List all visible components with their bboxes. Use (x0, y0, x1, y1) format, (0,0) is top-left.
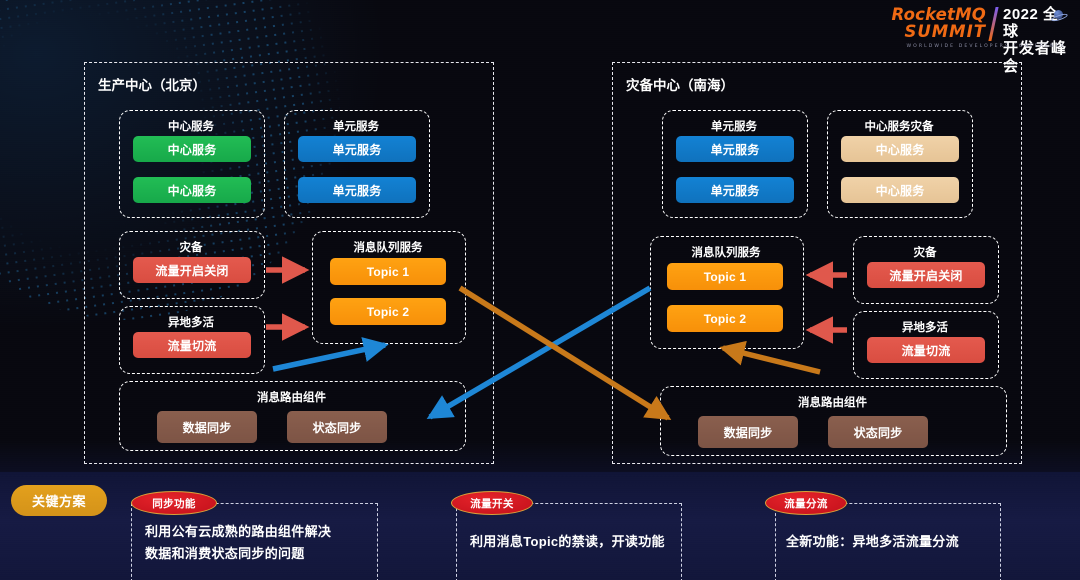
chip-dr-data-sync[interactable]: 数据同步 (698, 416, 798, 448)
chip-center-service-2[interactable]: 中心服务 (133, 177, 251, 203)
note-text-sync: 利用公有云成熟的路由组件解决 数据和消费状态同步的问题 (145, 521, 370, 565)
chip-traffic-switch[interactable]: 流量开启关闭 (133, 257, 251, 283)
badge-sync-function[interactable]: 同步功能 (131, 491, 217, 515)
chip-traffic-cutover[interactable]: 流量切流 (133, 332, 251, 358)
group-center-service-title: 中心服务 (119, 118, 263, 134)
event-logo: RocketMQ SUMMIT 2022 全球 开发者峰会 WORLDWIDE … (866, 4, 1072, 52)
group-dr-disaster-recovery-title: 灾备 (853, 244, 997, 260)
brand-lockup: RocketMQ SUMMIT (866, 6, 986, 41)
chip-dr-unit-service-1[interactable]: 单元服务 (676, 136, 794, 162)
zone-production-center-title: 生产中心（北京） (98, 74, 206, 94)
brand-rocketmq: RocketMQ (866, 6, 986, 23)
planet-icon (1052, 10, 1065, 19)
group-multi-active-title: 异地多活 (119, 314, 263, 330)
note-text-sync-line2: 数据和消费状态同步的问题 (145, 543, 370, 565)
chip-dr-traffic-switch[interactable]: 流量开启关闭 (867, 262, 985, 288)
note-text-sync-line1: 利用公有云成熟的路由组件解决 (145, 521, 370, 543)
chip-data-sync[interactable]: 数据同步 (157, 411, 257, 443)
zone-dr-center-title: 灾备中心（南海） (626, 74, 734, 94)
chip-dr-state-sync[interactable]: 状态同步 (828, 416, 928, 448)
brand-summit: SUMMIT (866, 23, 986, 41)
group-center-service-dr-title: 中心服务灾备 (827, 118, 971, 134)
logo-divider (988, 7, 998, 41)
group-dr-unit-service-title: 单元服务 (662, 118, 806, 134)
group-message-queue-service-title: 消息队列服务 (312, 239, 464, 255)
note-text-traffic-switch: 利用消息Topic的禁读，开读功能 (470, 531, 675, 553)
chip-topic-2[interactable]: Topic 2 (330, 298, 446, 325)
chip-state-sync[interactable]: 状态同步 (287, 411, 387, 443)
key-solution-pill[interactable]: 关键方案 (11, 485, 107, 516)
group-message-routing-title: 消息路由组件 (119, 389, 464, 405)
group-dr-multi-active-title: 异地多活 (853, 319, 997, 335)
note-text-traffic-switch-line1: 利用消息Topic的禁读，开读功能 (470, 531, 675, 553)
chip-dr-traffic-cutover[interactable]: 流量切流 (867, 337, 985, 363)
chip-unit-service-1[interactable]: 单元服务 (298, 136, 416, 162)
chip-dr-unit-service-2[interactable]: 单元服务 (676, 177, 794, 203)
chip-center-service-1[interactable]: 中心服务 (133, 136, 251, 162)
group-dr-message-routing-title: 消息路由组件 (660, 394, 1005, 410)
badge-traffic-switch[interactable]: 流量开关 (451, 491, 533, 515)
chip-topic-1[interactable]: Topic 1 (330, 258, 446, 285)
chip-dr-topic-1[interactable]: Topic 1 (667, 263, 783, 290)
note-text-traffic-split: 全新功能：异地多活流量分流 (786, 531, 996, 553)
group-unit-service-title: 单元服务 (284, 118, 428, 134)
chip-unit-service-2[interactable]: 单元服务 (298, 177, 416, 203)
note-text-traffic-split-line1: 全新功能：异地多活流量分流 (786, 531, 996, 553)
event-subtitle: WORLDWIDE DEVELOPERS CONFERENCE (906, 44, 1066, 49)
chip-dr-center-service-2[interactable]: 中心服务 (841, 177, 959, 203)
group-dr-message-queue-service-title: 消息队列服务 (650, 244, 802, 260)
group-disaster-recovery-title: 灾备 (119, 239, 263, 255)
slide-canvas: RocketMQ SUMMIT 2022 全球 开发者峰会 WORLDWIDE … (0, 0, 1080, 580)
badge-traffic-split[interactable]: 流量分流 (765, 491, 847, 515)
chip-dr-topic-2[interactable]: Topic 2 (667, 305, 783, 332)
chip-dr-center-service-1[interactable]: 中心服务 (841, 136, 959, 162)
